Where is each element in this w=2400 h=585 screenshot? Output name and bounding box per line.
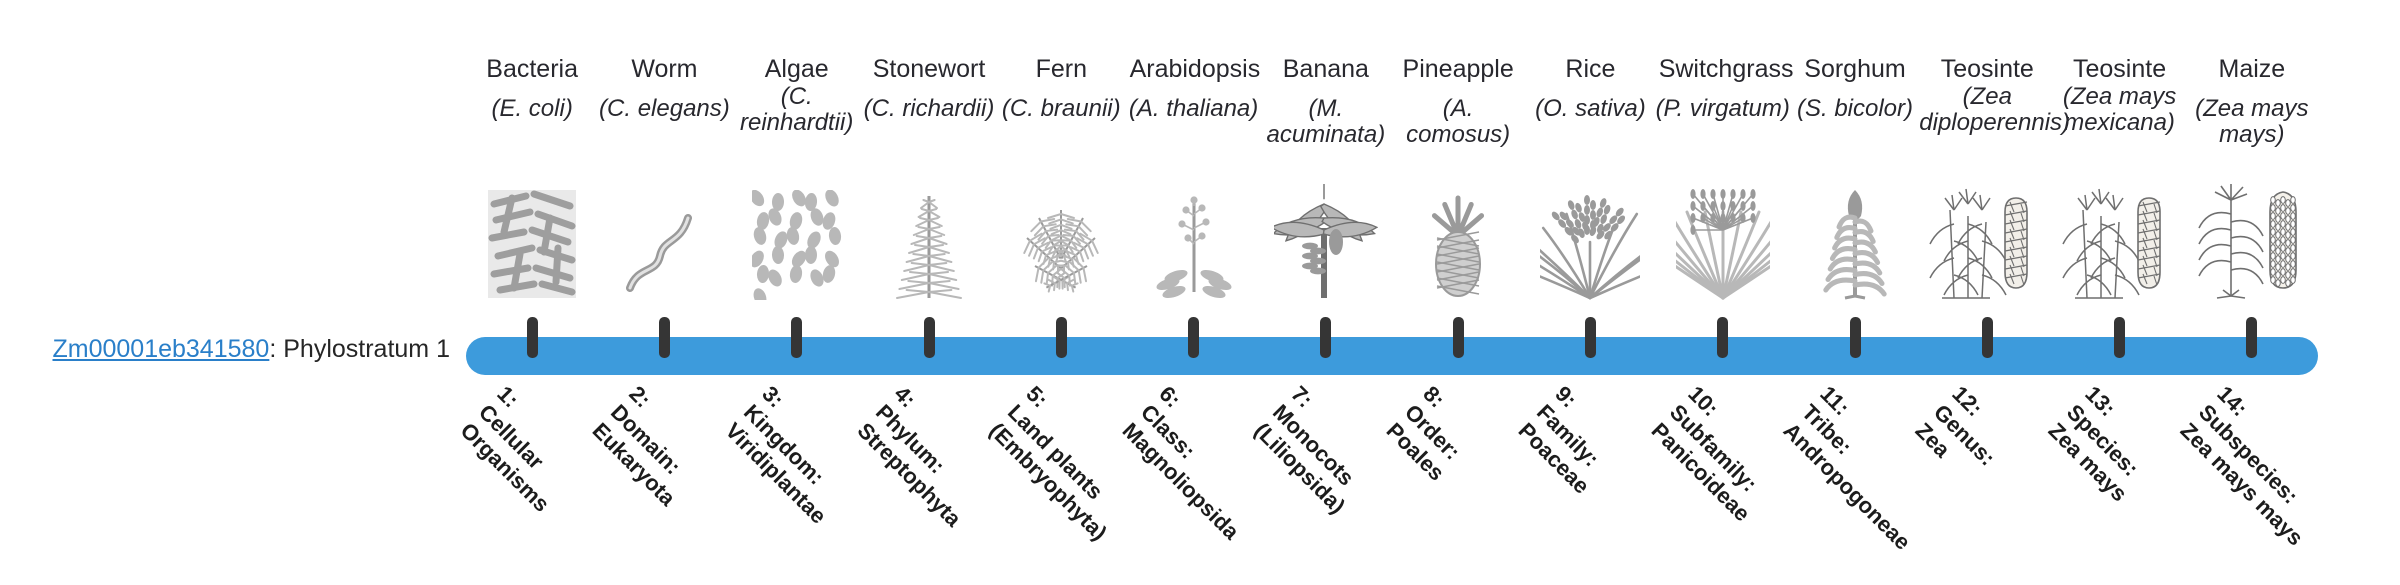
- teosinte-plant-and-ear-icon: [2056, 168, 2184, 300]
- species-common-name: Fern: [997, 56, 1125, 82]
- timeline-tick: [1320, 317, 1331, 358]
- timeline-tick: [924, 317, 935, 358]
- species-common-name: Banana: [1262, 56, 1390, 82]
- species-scientific-name: (S. bicolor): [1787, 96, 1923, 122]
- timeline-tick: [1188, 317, 1199, 358]
- timeline-tick: [1056, 317, 1067, 358]
- gene-id-link[interactable]: Zm00001eb341580: [52, 335, 269, 363]
- species-scientific-name: (C. richardii): [861, 96, 997, 122]
- species-common-name: Teosinte: [2056, 56, 2184, 82]
- gene-label-separator: :: [269, 335, 283, 363]
- species-common-name: Switchgrass: [1659, 56, 1787, 82]
- species-scientific-name: (Zea mays mays): [2184, 96, 2320, 147]
- timeline-tick: [1717, 317, 1728, 358]
- species-common-name: Sorghum: [1791, 56, 1919, 82]
- species-scientific-name: (M. acuminata): [1258, 96, 1394, 147]
- timeline-tick: [1453, 317, 1464, 358]
- sorghum-icon: [1791, 168, 1919, 300]
- timeline-tick: [659, 317, 670, 358]
- bacteria-icon: [468, 168, 596, 300]
- timeline-tick: [527, 317, 538, 358]
- species-scientific-name: (C. elegans): [596, 96, 732, 122]
- species-common-name: Teosinte: [1923, 56, 2051, 82]
- species-scientific-name: (P. virgatum): [1655, 96, 1791, 122]
- species-common-name: Maize: [2188, 56, 2316, 82]
- species-scientific-name: (O. sativa): [1522, 96, 1658, 122]
- timeline-tick: [2246, 317, 2257, 358]
- timeline-tick: [791, 317, 802, 358]
- species-scientific-name: (A. comosus): [1390, 96, 1526, 147]
- timeline-tick: [1585, 317, 1596, 358]
- species-common-name: Bacteria: [468, 56, 596, 82]
- species-scientific-name: (Zea diploperennis): [1919, 84, 2055, 135]
- timeline-tick: [2114, 317, 2125, 358]
- stonewort-icon: [865, 168, 993, 300]
- teosinte-plant-and-ear-icon: [1923, 168, 2051, 300]
- phylostratigraphy-timeline: Zm00001eb341580: Phylostratum 1 Bacteria…: [0, 0, 2400, 520]
- maize-plant-and-ear-icon: [2188, 168, 2316, 300]
- algae-icon: [733, 168, 861, 300]
- banana-icon: [1262, 168, 1390, 300]
- fern-icon: [997, 168, 1125, 300]
- gene-phylostratum-label: Zm00001eb341580: Phylostratum 1: [30, 337, 450, 362]
- species-scientific-name: (C. braunii): [993, 96, 1129, 122]
- species-scientific-name: (A. thaliana): [1126, 96, 1262, 122]
- timeline-tick: [1982, 317, 1993, 358]
- switchgrass-icon: [1659, 168, 1787, 300]
- species-common-name: Stonewort: [865, 56, 993, 82]
- arabidopsis-icon: [1130, 168, 1258, 300]
- species-scientific-name: (E. coli): [464, 96, 600, 122]
- species-common-name: Algae: [733, 56, 861, 82]
- phylostratum-value: Phylostratum 1: [283, 335, 450, 363]
- species-scientific-name: (C. reinhardtii): [729, 84, 865, 135]
- worm-icon: [600, 168, 728, 300]
- pineapple-icon: [1394, 168, 1522, 300]
- species-scientific-name: (Zea mays mexicana): [2052, 84, 2188, 135]
- species-common-name: Rice: [1526, 56, 1654, 82]
- species-common-name: Pineapple: [1394, 56, 1522, 82]
- timeline-tick: [1850, 317, 1861, 358]
- species-common-name: Worm: [600, 56, 728, 82]
- species-common-name: Arabidopsis: [1130, 56, 1258, 82]
- rice-icon: [1526, 168, 1654, 300]
